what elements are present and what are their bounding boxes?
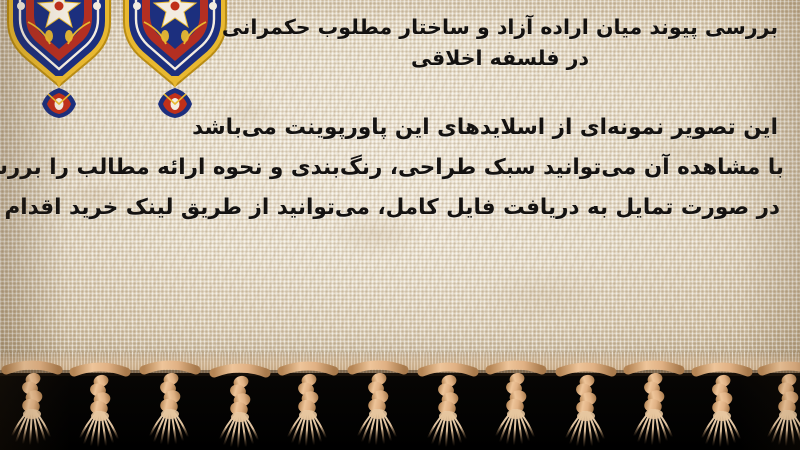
presentation-slide: بررسی پیوند میان اراده آزاد و ساختار مطل…	[0, 0, 800, 450]
slide-body: این تصویر نمونه‌ای از اسلایدهای این پاور…	[12, 108, 784, 228]
body-line-3: در صورت تمایل به دریافت فایل کامل، می‌تو…	[12, 188, 784, 228]
body-line-2: با مشاهده آن می‌توانید سبک طراحی، رنگ‌بن…	[12, 148, 784, 188]
carpet-fringe-tassels	[0, 352, 800, 450]
persian-medallion-ornament-left	[4, 0, 114, 118]
body-line-1: این تصویر نمونه‌ای از اسلایدهای این پاور…	[12, 108, 784, 148]
slide-title: بررسی پیوند میان اراده آزاد و ساختار مطل…	[220, 12, 780, 74]
persian-medallion-ornament-right	[120, 0, 230, 118]
